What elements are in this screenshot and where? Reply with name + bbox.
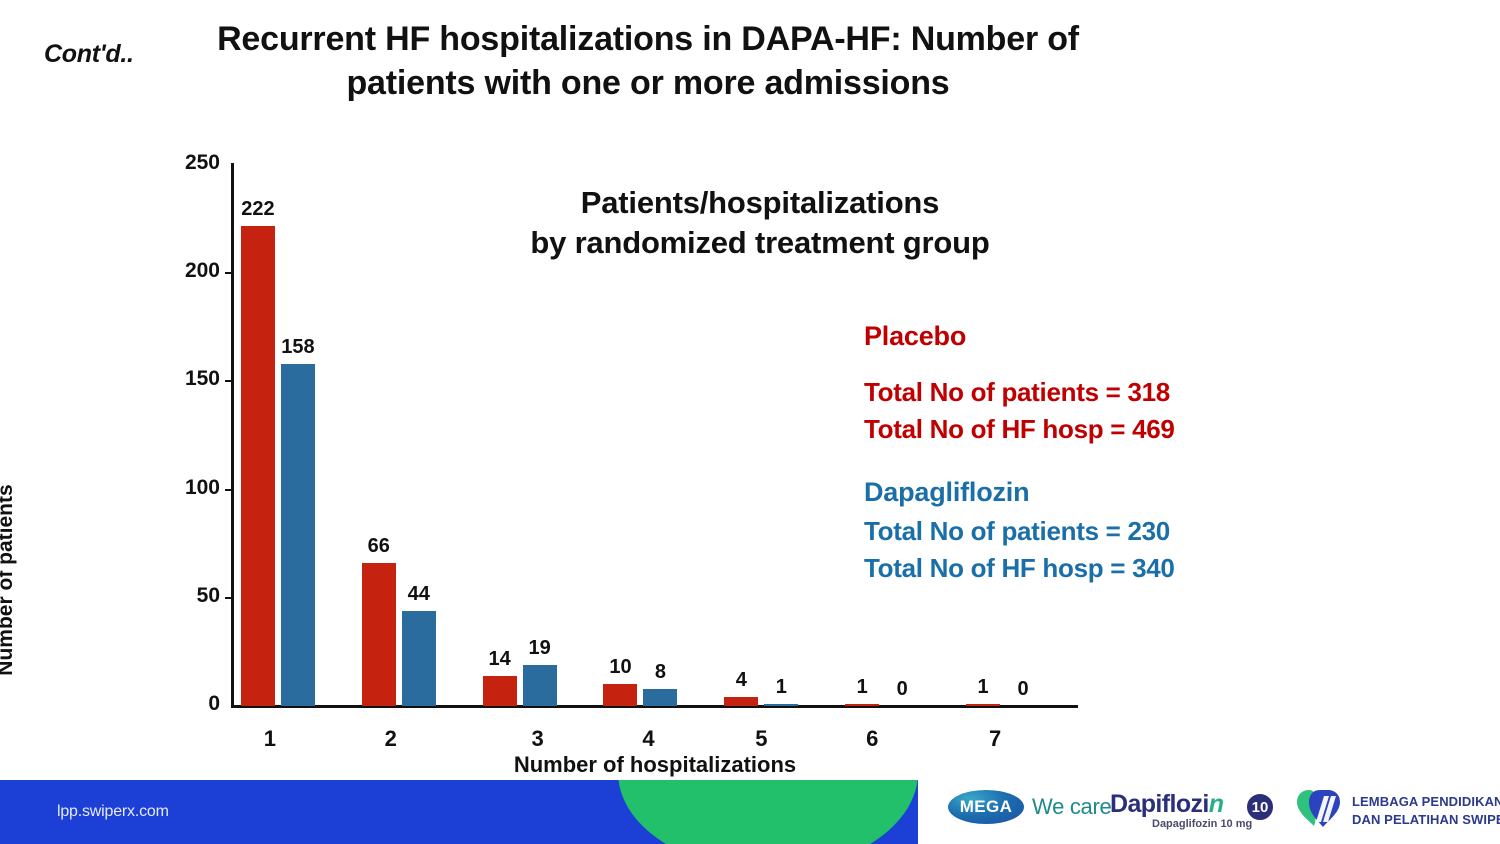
footer-green-accent <box>618 780 918 844</box>
mega-logo-text: MEGA <box>960 797 1013 817</box>
legend-group-placebo: Placebo Total No of patients = 318 Total… <box>864 318 1284 448</box>
chart-headline-line-1: Patients/hospitalizations <box>470 183 1050 223</box>
lpp-logo-line-2: DAN PELATIHAN SWIPERX <box>1352 811 1500 829</box>
bar-value-label: 158 <box>263 336 333 359</box>
x-tick-label: 7 <box>965 726 1025 752</box>
lpp-logo-line-1: LEMBAGA PENDIDIKAN <box>1352 793 1500 811</box>
bar-value-label: 8 <box>625 661 695 684</box>
bar-value-label: 0 <box>867 678 937 701</box>
dapiflozin-brand-name: Dapiflozin <box>1110 790 1223 819</box>
y-tick-label: 100 <box>150 476 220 500</box>
bar-dapagliflozin-4 <box>643 689 677 706</box>
dapiflozin-brand-main: Dapiflozi <box>1110 790 1209 818</box>
slide-root: Cont'd.. Recurrent HF hospitalizations i… <box>0 0 1500 844</box>
y-tick-label: 250 <box>150 151 220 175</box>
placebo-total-hosp: Total No of HF hosp = 469 <box>864 411 1284 448</box>
y-tick-label: 150 <box>150 367 220 391</box>
bar-dapagliflozin-2 <box>402 611 436 706</box>
dapagliflozin-total-hosp: Total No of HF hosp = 340 <box>864 550 1284 587</box>
chart-headline: Patients/hospitalizations by randomized … <box>470 183 1050 264</box>
x-tick-label: 3 <box>508 726 568 752</box>
lpp-heart-icon <box>1296 788 1344 828</box>
x-axis-title: Number of hospitalizations <box>232 752 1078 778</box>
bar-dapagliflozin-1 <box>281 364 315 706</box>
placebo-total-patients: Total No of patients = 318 <box>864 374 1284 411</box>
legend-group-dapagliflozin: Dapagliflozin Total No of patients = 230… <box>864 474 1284 586</box>
chart-headline-line-2: by randomized treatment group <box>470 223 1050 263</box>
mega-logo: MEGA <box>948 790 1024 824</box>
bar-value-label: 0 <box>988 678 1058 701</box>
legend-label-placebo: Placebo <box>864 318 1284 354</box>
x-tick-label: 5 <box>731 726 791 752</box>
lpp-logo: LEMBAGA PENDIDIKAN DAN PELATIHAN SWIPERX <box>1296 787 1496 831</box>
bar-dapagliflozin-5 <box>764 704 798 706</box>
y-tick-label: 0 <box>150 692 220 716</box>
legend-label-dapagliflozin: Dapagliflozin <box>864 474 1284 510</box>
x-tick-label: 1 <box>240 726 300 752</box>
bar-placebo-7 <box>966 704 1000 706</box>
mega-logo-ellipse: MEGA <box>948 790 1024 824</box>
dose-badge-10: 10 <box>1245 792 1275 822</box>
x-tick-label: 2 <box>361 726 421 752</box>
bar-dapagliflozin-3 <box>523 665 557 706</box>
we-care-tagline: We care <box>1032 794 1111 820</box>
bar-value-label: 1 <box>746 676 816 699</box>
bar-chart: Number of patients Number of hospitaliza… <box>0 0 1500 790</box>
dapiflozin-brand-swoosh: n <box>1209 790 1224 818</box>
bar-value-label: 44 <box>384 583 454 606</box>
bar-value-label: 222 <box>223 198 293 221</box>
y-tick-label: 200 <box>150 259 220 283</box>
x-tick-label: 4 <box>618 726 678 752</box>
bar-placebo-3 <box>483 676 517 706</box>
footer-url[interactable]: lpp.swiperx.com <box>57 803 169 821</box>
footer-bar: lpp.swiperx.com <box>0 780 1500 844</box>
dapagliflozin-total-patients: Total No of patients = 230 <box>864 513 1284 550</box>
dapiflozin-generic-name: Dapaglifozin 10 mg <box>1152 818 1252 830</box>
bar-placebo-1 <box>241 226 275 706</box>
lpp-logo-text: LEMBAGA PENDIDIKAN DAN PELATIHAN SWIPERX <box>1352 793 1500 828</box>
y-tick-label: 50 <box>150 584 220 608</box>
bar-value-label: 19 <box>505 637 575 660</box>
chart-legend: Placebo Total No of patients = 318 Total… <box>864 318 1284 613</box>
y-axis-title: Number of patients <box>0 430 18 730</box>
bar-placebo-6 <box>845 704 879 706</box>
bar-placebo-4 <box>603 684 637 706</box>
x-tick-label: 6 <box>842 726 902 752</box>
bar-value-label: 66 <box>344 535 414 558</box>
